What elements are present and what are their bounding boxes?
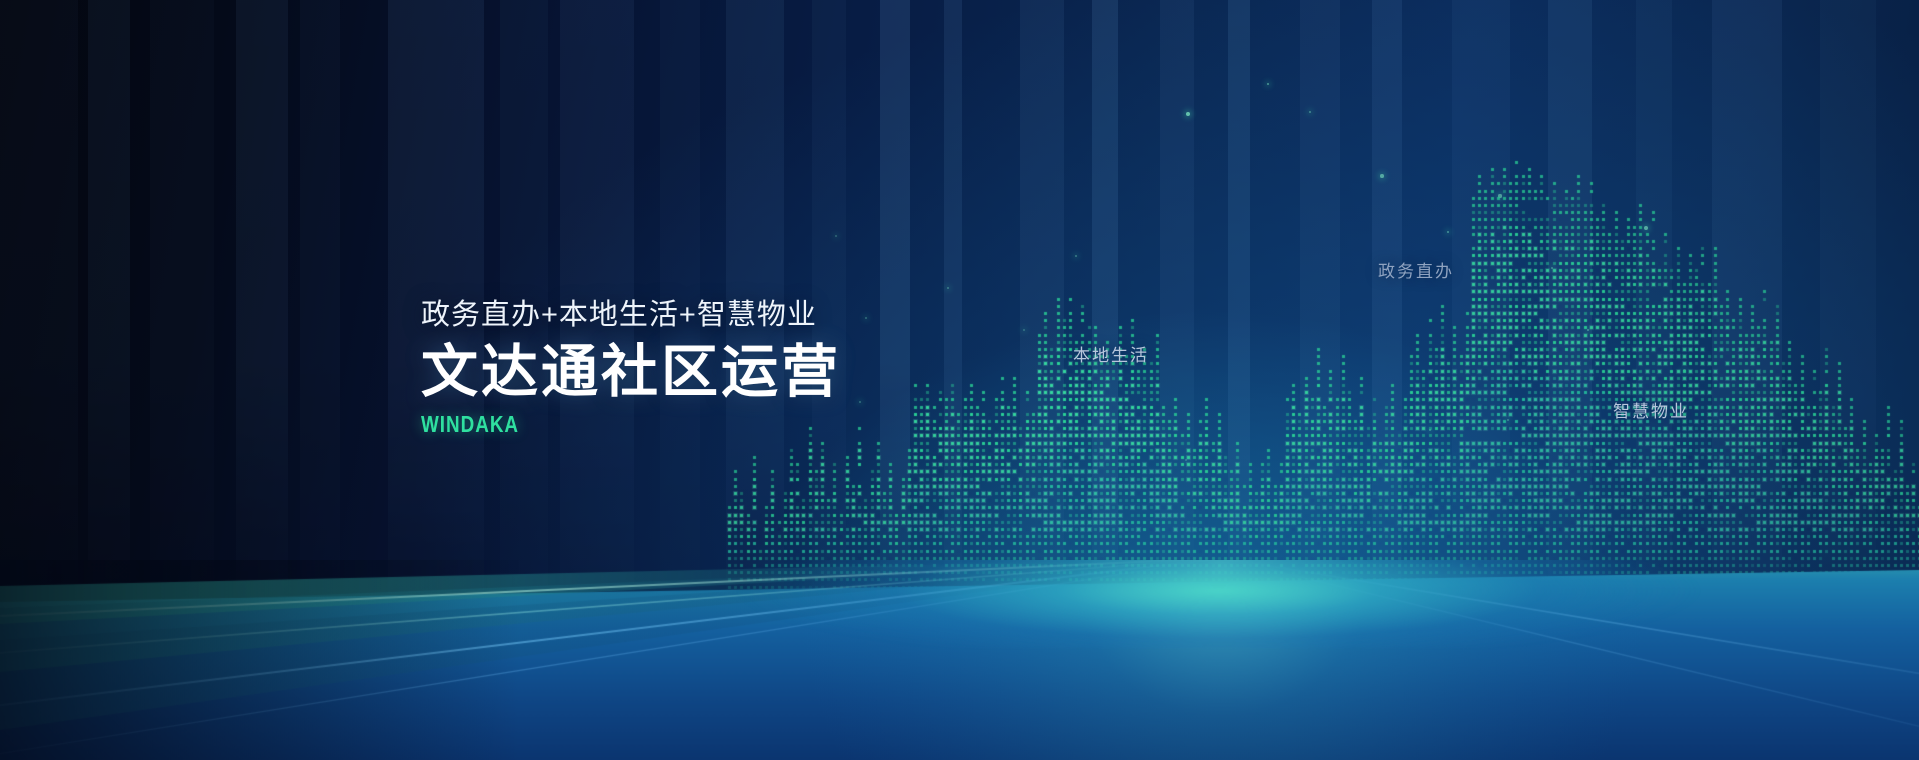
feature-label-3: 智慧物业 (1613, 397, 1689, 422)
hero-copy-block: 政务直办+本地生活+智慧物业 文达通社区运营 WINDAKA (421, 298, 1181, 438)
brand-wordmark: WINDAKA (421, 411, 1044, 438)
hero-title: 文达通社区运营 (421, 341, 1181, 404)
feature-label-2: 政务直办 (1378, 257, 1454, 282)
hero-subtitle: 政务直办+本地生活+智慧物业 (421, 298, 1181, 332)
feature-label-1: 本地生活 (1073, 341, 1149, 366)
horizon-glow (0, 560, 1919, 648)
perspective-ground (0, 560, 1919, 760)
hero-banner: 政务直办+本地生活+智慧物业 文达通社区运营 WINDAKA 本地生活政务直办智… (0, 0, 1919, 760)
